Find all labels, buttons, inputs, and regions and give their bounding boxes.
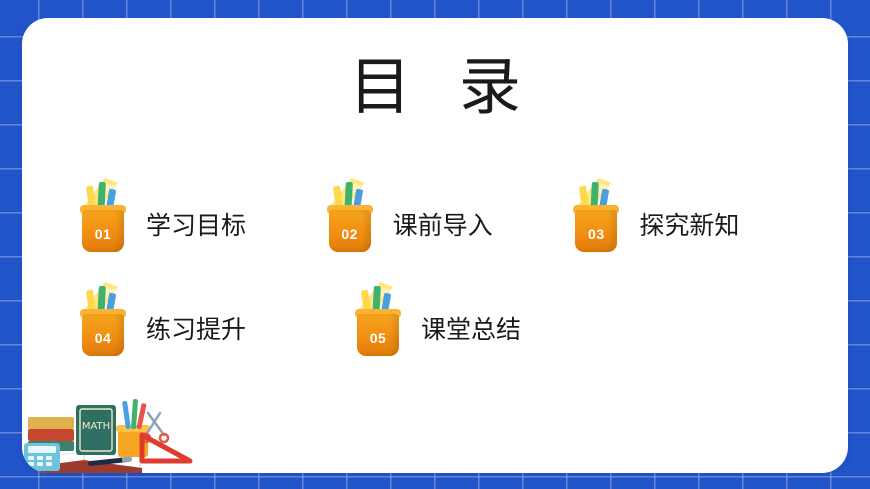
item-number: 03 xyxy=(575,226,617,242)
item-label: 课堂总结 xyxy=(421,310,521,356)
list-item[interactable]: 02 课前导入 xyxy=(321,166,568,252)
list-item[interactable]: 05 课堂总结 xyxy=(349,270,624,356)
item-number: 02 xyxy=(329,226,371,242)
item-number: 01 xyxy=(82,226,124,242)
pencil-cup-icon: 05 xyxy=(349,272,411,356)
item-label: 探究新知 xyxy=(639,206,739,252)
contents-row-2: 04 练习提升 05 课堂总结 xyxy=(74,270,814,356)
pencil-cup-icon: 03 xyxy=(567,168,629,252)
item-label: 练习提升 xyxy=(146,310,246,356)
item-label: 课前导入 xyxy=(393,206,493,252)
list-item[interactable]: 01 学习目标 xyxy=(74,166,321,252)
contents-list: 01 学习目标 02 课前导入 xyxy=(74,166,814,374)
pencil-cup-icon: 02 xyxy=(321,168,383,252)
list-item[interactable]: 04 练习提升 xyxy=(74,270,349,356)
content-card: 目 录 01 学习目标 xyxy=(22,18,848,473)
item-number: 04 xyxy=(82,330,124,346)
pencil-cup-icon: 04 xyxy=(74,272,136,356)
page-title: 目 录 xyxy=(22,36,848,126)
contents-row-1: 01 学习目标 02 课前导入 xyxy=(74,166,814,252)
item-number: 05 xyxy=(357,330,399,346)
svg-text:MATH: MATH xyxy=(82,421,110,432)
slide: 目 录 01 学习目标 xyxy=(0,0,870,489)
list-item[interactable]: 03 探究新知 xyxy=(567,166,814,252)
pencil-cup-icon: 01 xyxy=(74,168,136,252)
item-label: 学习目标 xyxy=(146,206,246,252)
